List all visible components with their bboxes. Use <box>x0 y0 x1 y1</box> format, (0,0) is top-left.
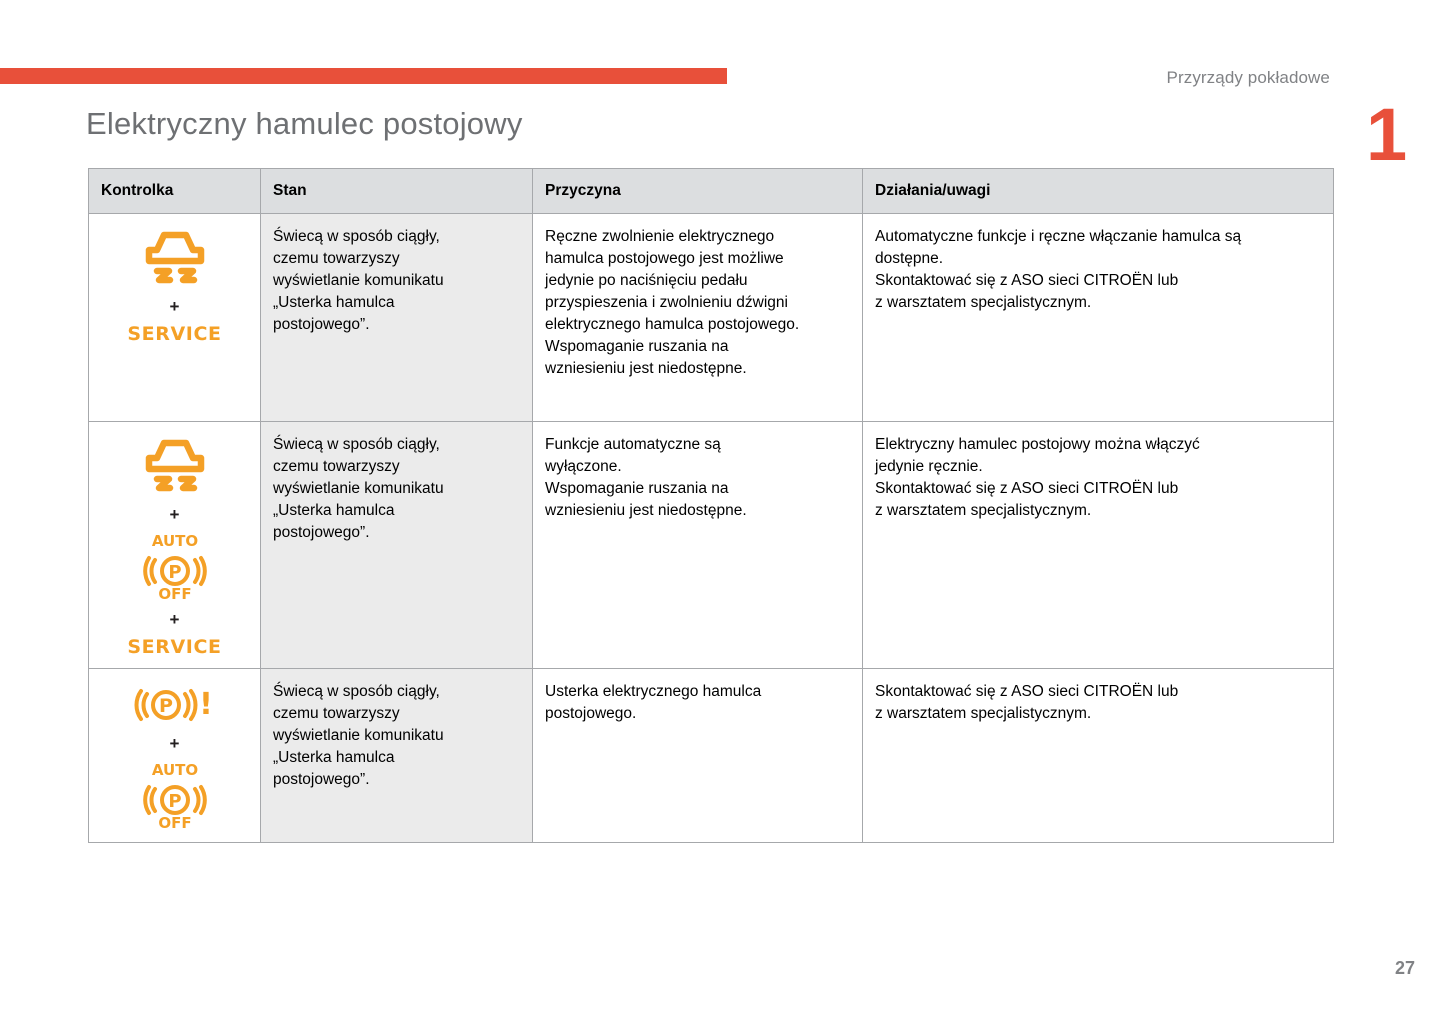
action-cell: Skontaktować się z ASO sieci CITROËN lub… <box>863 669 1334 843</box>
svg-text:OFF: OFF <box>158 814 191 832</box>
esp-skid-car-icon <box>139 228 211 290</box>
plus-separator: + <box>170 612 180 627</box>
action-text: Skontaktować się z ASO sieci CITROËN lub… <box>863 669 1333 739</box>
accent-rule <box>0 68 727 84</box>
page-number: 27 <box>1395 958 1415 979</box>
icon-cell: P ! + AUTO P <box>89 669 261 843</box>
plus-separator: + <box>170 507 180 522</box>
svg-text:AUTO: AUTO <box>151 761 197 779</box>
svg-text:!: ! <box>199 687 213 722</box>
column-header-przyczyna: Przyczyna <box>533 169 863 214</box>
esp-skid-car-icon <box>139 436 211 498</box>
cause-cell: Usterka elektrycznego hamulca postojoweg… <box>533 669 863 843</box>
chapter-number-tab: 1 <box>1366 95 1406 175</box>
column-header-kontrolka: Kontrolka <box>89 169 261 214</box>
icon-cell: + AUTO P OFF + <box>89 422 261 669</box>
state-cell: Świecą w sposób ciągły, czemu towarzyszy… <box>261 214 533 422</box>
state-cell: Świecą w sposób ciągły, czemu towarzyszy… <box>261 669 533 843</box>
cause-cell: Ręczne zwolnienie elektrycznego hamulca … <box>533 214 863 422</box>
cause-text: Funkcje automatyczne są wyłączone. Wspom… <box>533 422 862 536</box>
service-label: SERVICE <box>127 636 221 658</box>
state-cell: Świecą w sposób ciągły, czemu towarzyszy… <box>261 422 533 669</box>
svg-text:P: P <box>168 791 181 812</box>
table-row: P ! + AUTO P <box>89 669 1334 843</box>
icon-cell: + SERVICE <box>89 214 261 422</box>
table-row: + AUTO P OFF + <box>89 422 1334 669</box>
auto-p-off-icon: AUTO P OFF <box>139 760 211 832</box>
action-text: Automatyczne funkcje i ręczne włączanie … <box>863 214 1333 328</box>
page-title: Elektryczny hamulec postojowy <box>86 106 523 142</box>
action-text: Elektryczny hamulec postojowy można włąc… <box>863 422 1333 536</box>
column-header-stan: Stan <box>261 169 533 214</box>
svg-text:P: P <box>159 695 173 717</box>
cause-cell: Funkcje automatyczne są wyłączone. Wspom… <box>533 422 863 669</box>
service-label: SERVICE <box>127 323 221 345</box>
running-head: Przyrządy pokładowe <box>1167 68 1330 88</box>
table-header-row: Kontrolka Stan Przyczyna Działania/uwagi <box>89 169 1334 214</box>
table-row: + SERVICE Świecą w sposób ciągły, czemu … <box>89 214 1334 422</box>
svg-text:OFF: OFF <box>158 585 191 603</box>
state-text: Świecą w sposób ciągły, czemu towarzyszy… <box>261 669 532 805</box>
auto-p-off-icon: AUTO P OFF <box>139 531 211 603</box>
action-cell: Elektryczny hamulec postojowy można włąc… <box>863 422 1334 669</box>
column-header-dzialania: Działania/uwagi <box>863 169 1334 214</box>
plus-separator: + <box>170 299 180 314</box>
state-text: Świecą w sposób ciągły, czemu towarzyszy… <box>261 214 532 350</box>
plus-separator: + <box>170 736 180 751</box>
state-text: Świecą w sposób ciągły, czemu towarzyszy… <box>261 422 532 558</box>
cause-text: Ręczne zwolnienie elektrycznego hamulca … <box>533 214 862 394</box>
parking-brake-fault-icon: P ! <box>132 683 218 727</box>
warning-lamp-table: Kontrolka Stan Przyczyna Działania/uwagi <box>88 168 1334 843</box>
cause-text: Usterka elektrycznego hamulca postojoweg… <box>533 669 862 739</box>
svg-text:P: P <box>168 562 181 583</box>
svg-text:AUTO: AUTO <box>151 532 197 550</box>
action-cell: Automatyczne funkcje i ręczne włączanie … <box>863 214 1334 422</box>
